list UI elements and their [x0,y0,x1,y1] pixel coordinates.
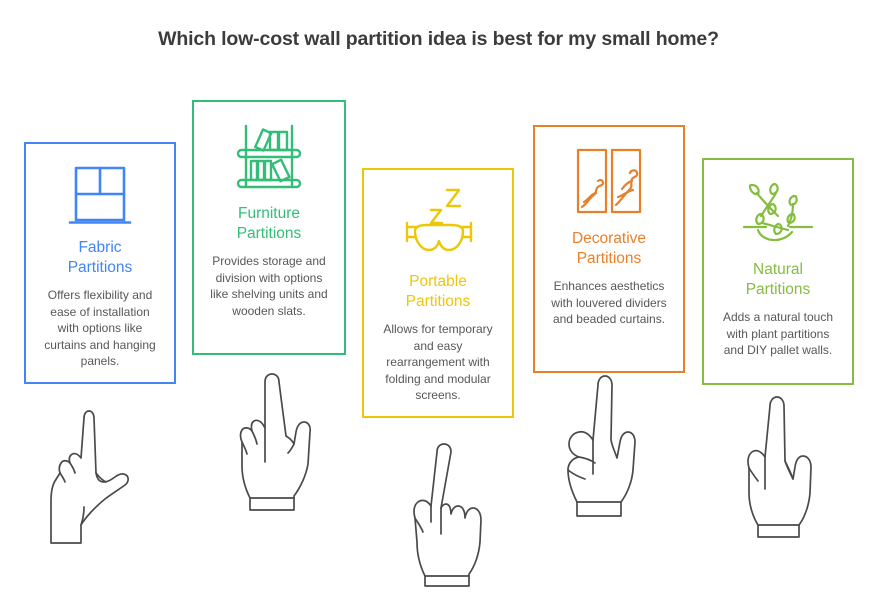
card-furniture[interactable]: Furniture Partitions Provides storage an… [192,100,346,355]
card-natural[interactable]: Natural Partitions Adds a natural touch … [702,158,854,385]
card-heading-decorative: Decorative Partitions [566,229,652,269]
card-body-natural: Adds a natural touch with plant partitio… [704,309,852,359]
window-panel-icon [26,160,174,230]
hand-fabric [43,403,153,553]
hand-portable [403,438,495,590]
card-heading-natural: Natural Partitions [740,260,817,300]
hand-natural [733,391,825,543]
decorative-screen-panels-icon [535,143,683,219]
card-decorative[interactable]: Decorative Partitions Enhances aesthetic… [533,125,685,373]
card-portable[interactable]: Portable Partitions Allows for temporary… [362,168,514,418]
card-body-fabric: Offers flexibility and ease of installat… [26,287,174,370]
card-body-furniture: Provides storage and division with optio… [194,253,344,319]
plant-vine-icon [704,176,852,250]
card-fabric[interactable]: Fabric Partitions Offers flexibility and… [24,142,176,384]
hand-decorative [553,370,653,522]
hand-furniture [232,366,328,518]
bookshelf-icon [194,118,344,194]
card-body-portable: Allows for temporary and easy rearrangem… [364,321,512,404]
infographic-canvas: Which low-cost wall partition idea is be… [0,0,877,597]
card-heading-fabric: Fabric Partitions [62,238,139,278]
card-body-decorative: Enhances aesthetics with louvered divide… [535,278,683,328]
page-title: Which low-cost wall partition idea is be… [0,28,877,51]
card-heading-portable: Portable Partitions [400,272,477,312]
card-heading-furniture: Furniture Partitions [231,204,308,244]
sleep-mask-icon [364,184,512,260]
